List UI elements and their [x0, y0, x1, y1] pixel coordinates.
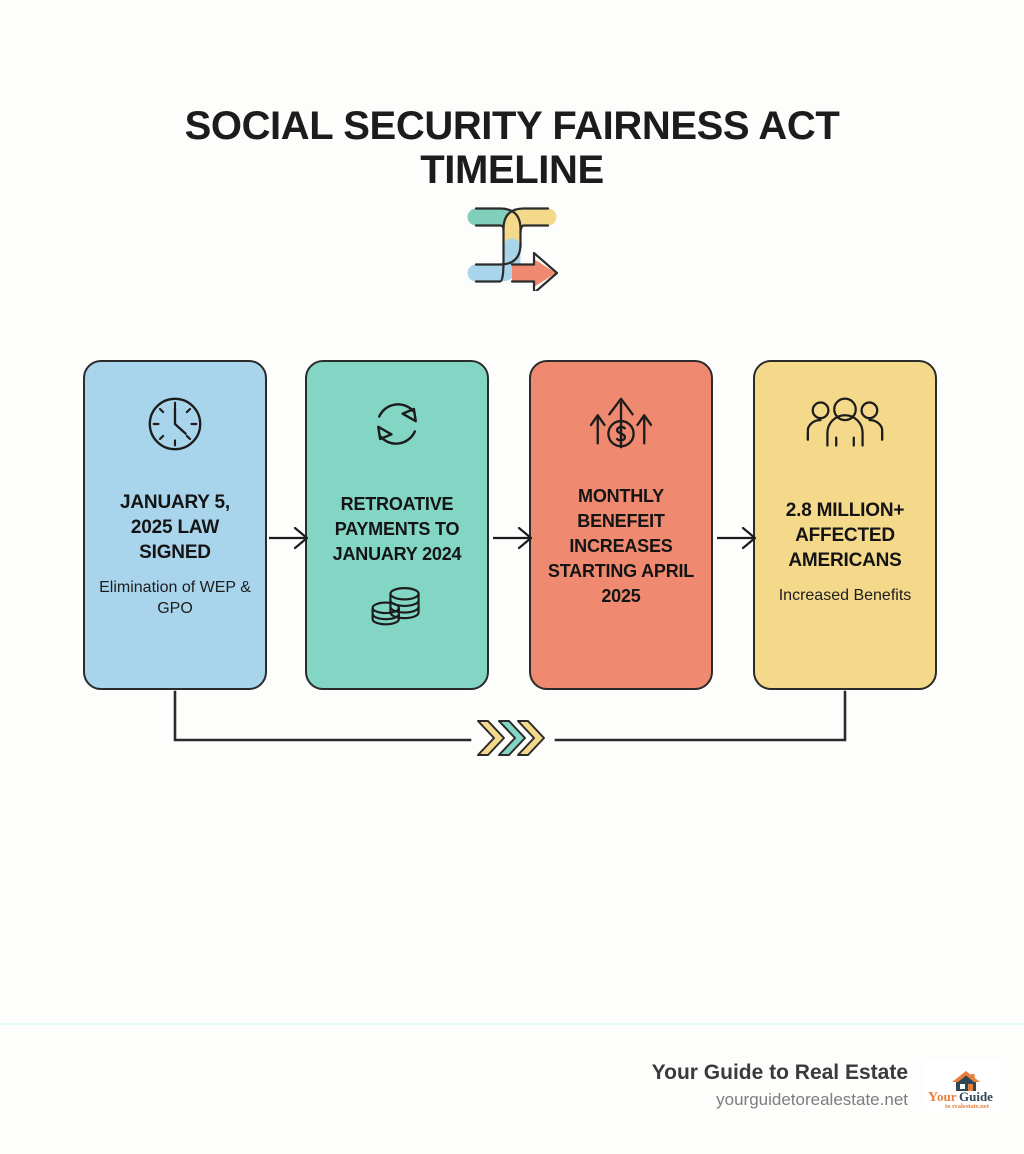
page-title: SOCIAL SECURITY FAIRNESS ACT TIMELINE: [0, 104, 1024, 192]
footer-brand: Your Guide to Real Estate: [652, 1060, 908, 1086]
title-block: SOCIAL SECURITY FAIRNESS ACT TIMELINE: [0, 104, 1024, 192]
timeline-card-retroactive-payments[interactable]: RETROATIVE PAYMENTS TO JANUARY 2024: [305, 360, 489, 690]
arrow-right-icon: [267, 518, 315, 558]
rising-dollar-arrows-icon: [583, 388, 659, 460]
coins-stack-icon: [367, 581, 427, 629]
timeline-card-law-signed[interactable]: JANUARY 5, 2025 LAW SIGNED Elimination o…: [83, 360, 267, 690]
clock-icon: [144, 388, 206, 460]
card-subtitle: Increased Benefits: [779, 585, 912, 606]
bracket-chevrons: [475, 715, 547, 761]
svg-text:Guide: Guide: [959, 1089, 993, 1104]
timeline-card-monthly-increases[interactable]: MONTHLY BENEFEIT INCREASES STARTING APRI…: [529, 360, 713, 690]
svg-text:our: our: [937, 1089, 957, 1104]
card-title: 2.8 MILLION+ AFFECTED AMERICANS: [767, 498, 923, 573]
footer-separator: [0, 1023, 1024, 1025]
arrow-right-icon: [491, 518, 539, 558]
card-subtitle: Elimination of WEP & GPO: [97, 577, 253, 619]
infographic-page: SOCIAL SECURITY FAIRNESS ACT TIMELINE: [0, 0, 1024, 1154]
footer: Your Guide to Real Estate yourguidetorea…: [652, 1060, 1000, 1112]
timeline-card-affected-americans[interactable]: 2.8 MILLION+ AFFECTED AMERICANS Increase…: [753, 360, 937, 690]
arrow-right-icon: [715, 518, 763, 558]
footer-url[interactable]: yourguidetorealestate.net: [652, 1088, 908, 1112]
svg-text:to realestate.net: to realestate.net: [945, 1103, 990, 1110]
your-guide-logo[interactable]: Y our Guide to realestate.net: [922, 1061, 1000, 1111]
refresh-cycle-icon: [365, 388, 429, 460]
footer-text: Your Guide to Real Estate yourguidetorea…: [652, 1060, 908, 1112]
card-title: RETROATIVE PAYMENTS TO JANUARY 2024: [319, 492, 475, 567]
crossed-flow-arrows-icon: [462, 203, 562, 291]
card-title: JANUARY 5, 2025 LAW SIGNED: [97, 490, 253, 565]
people-group-icon: [803, 388, 887, 460]
card-title: MONTHLY BENEFEIT INCREASES STARTING APRI…: [543, 484, 699, 609]
